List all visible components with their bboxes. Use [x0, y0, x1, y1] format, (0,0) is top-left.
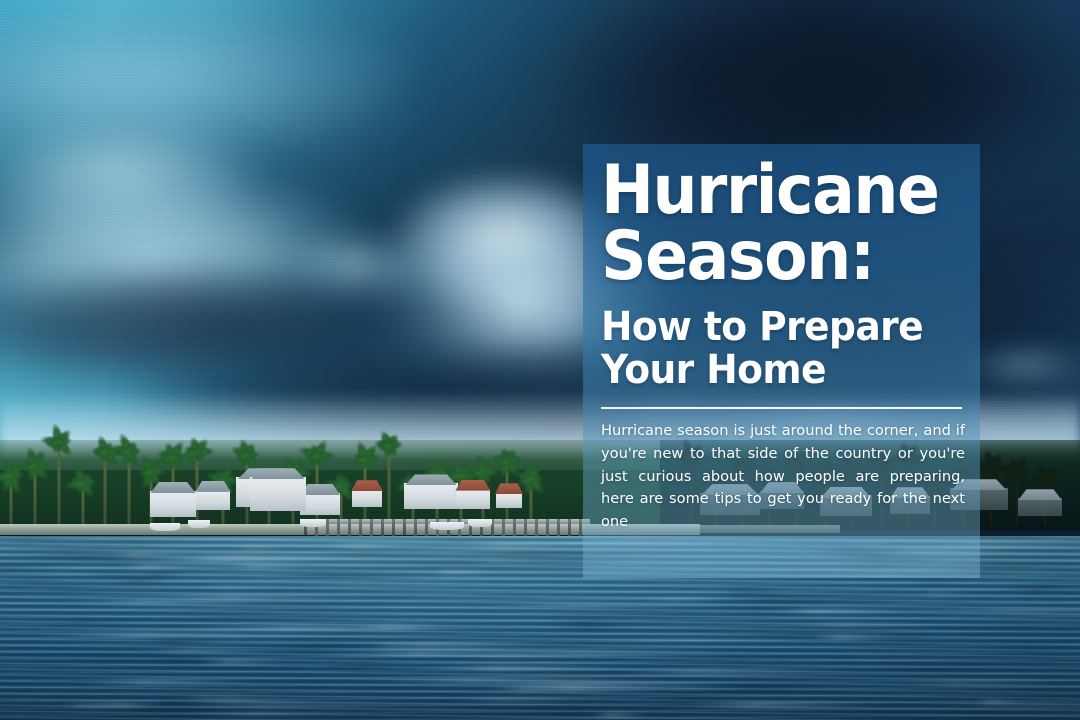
- title-line-1: Hurricane: [601, 158, 937, 224]
- house: [196, 490, 230, 510]
- palm-tree: [128, 454, 129, 527]
- page-title: Hurricane Season:: [601, 158, 937, 290]
- palm-tree: [104, 455, 105, 527]
- text-overlay-panel: Hurricane Season: How to Prepare Your Ho…: [583, 144, 980, 578]
- boat: [188, 520, 210, 528]
- palm-tree: [34, 469, 35, 527]
- subtitle-line-1: How to Prepare: [601, 306, 940, 349]
- body-paragraph: Hurricane season is just around the corn…: [601, 420, 965, 533]
- palm-tree: [82, 486, 83, 527]
- dock-piling: [381, 519, 384, 537]
- dock-piling: [392, 519, 395, 537]
- house: [404, 483, 458, 509]
- page-subtitle: How to Prepare Your Home: [601, 306, 940, 392]
- house: [250, 477, 306, 511]
- house: [150, 491, 196, 517]
- hurricane-season-banner: Hurricane Season: How to Prepare Your Ho…: [0, 0, 1080, 720]
- boat: [300, 519, 326, 527]
- boat: [468, 519, 492, 527]
- house: [496, 492, 522, 508]
- boat: [430, 522, 464, 530]
- house: [352, 489, 382, 507]
- boat: [150, 523, 180, 531]
- subtitle-line-2: Your Home: [601, 349, 940, 392]
- palm-tree: [10, 479, 11, 527]
- house: [1018, 498, 1062, 516]
- house: [300, 493, 340, 515]
- title-line-2: Season:: [601, 224, 937, 290]
- divider-rule: [601, 407, 962, 409]
- dock-piling: [403, 519, 406, 535]
- dock-piling: [568, 519, 571, 537]
- house: [456, 489, 490, 509]
